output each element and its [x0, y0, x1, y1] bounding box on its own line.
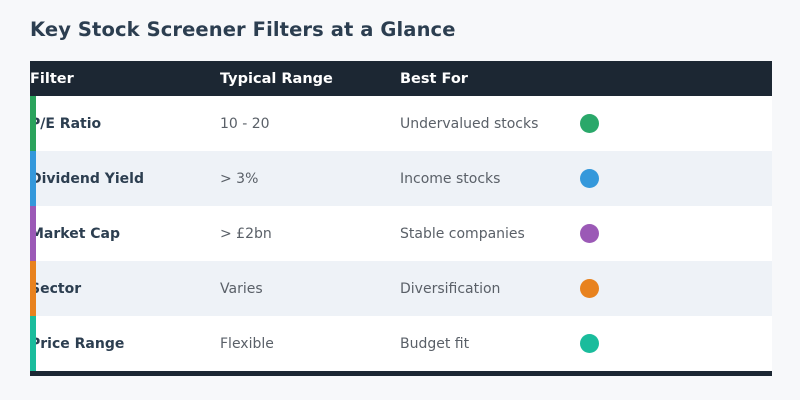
cell-filter-name: Dividend Yield	[30, 151, 220, 206]
row-accent-bar	[30, 316, 36, 371]
page-title: Key Stock Screener Filters at a Glance	[30, 18, 456, 41]
page-root: Key Stock Screener Filters at a Glance F…	[0, 0, 800, 400]
table-header-row: Filter Typical Range Best For	[30, 61, 772, 96]
filter-label: Price Range	[30, 336, 124, 352]
row-accent-bar	[30, 261, 36, 316]
cell-typical-range: > £2bn	[220, 206, 400, 261]
row-accent-bar	[30, 151, 36, 206]
column-header-best-for: Best For	[400, 61, 580, 96]
filter-label: Market Cap	[30, 226, 120, 242]
cell-filter-name: P/E Ratio	[30, 96, 220, 151]
cell-best-for: Budget fit	[400, 316, 580, 371]
row-accent-bar	[30, 206, 36, 261]
cell-best-for: Diversification	[400, 261, 580, 316]
cell-status	[580, 316, 772, 371]
table-row[interactable]: SectorVariesDiversification	[30, 261, 772, 316]
cell-typical-range: > 3%	[220, 151, 400, 206]
cell-best-for: Stable companies	[400, 206, 580, 261]
row-accent-bar	[30, 96, 36, 151]
cell-best-for: Income stocks	[400, 151, 580, 206]
filter-label: Dividend Yield	[30, 171, 144, 187]
filter-label: P/E Ratio	[30, 116, 101, 132]
table-row[interactable]: P/E Ratio10 - 20Undervalued stocks	[30, 96, 772, 151]
status-dot-teal	[580, 334, 599, 353]
column-header-typical-range: Typical Range	[220, 61, 400, 96]
status-dot-blue	[580, 169, 599, 188]
screener-table: Filter Typical Range Best For P/E Ratio1…	[30, 61, 772, 371]
column-header-status	[580, 61, 772, 96]
column-header-filter: Filter	[30, 61, 220, 96]
cell-status	[580, 96, 772, 151]
screener-table-container: Filter Typical Range Best For P/E Ratio1…	[30, 61, 772, 376]
cell-best-for: Undervalued stocks	[400, 96, 580, 151]
status-dot-green	[580, 114, 599, 133]
cell-typical-range: Varies	[220, 261, 400, 316]
status-dot-orange	[580, 279, 599, 298]
cell-filter-name: Market Cap	[30, 206, 220, 261]
table-row[interactable]: Dividend Yield> 3%Income stocks	[30, 151, 772, 206]
cell-filter-name: Sector	[30, 261, 220, 316]
filter-label: Sector	[30, 281, 81, 297]
cell-filter-name: Price Range	[30, 316, 220, 371]
table-row[interactable]: Price RangeFlexibleBudget fit	[30, 316, 772, 371]
table-body: P/E Ratio10 - 20Undervalued stocksDivide…	[30, 96, 772, 371]
cell-typical-range: Flexible	[220, 316, 400, 371]
cell-typical-range: 10 - 20	[220, 96, 400, 151]
table-row[interactable]: Market Cap> £2bnStable companies	[30, 206, 772, 261]
cell-status	[580, 206, 772, 261]
status-dot-purple	[580, 224, 599, 243]
table-header: Filter Typical Range Best For	[30, 61, 772, 96]
cell-status	[580, 261, 772, 316]
cell-status	[580, 151, 772, 206]
